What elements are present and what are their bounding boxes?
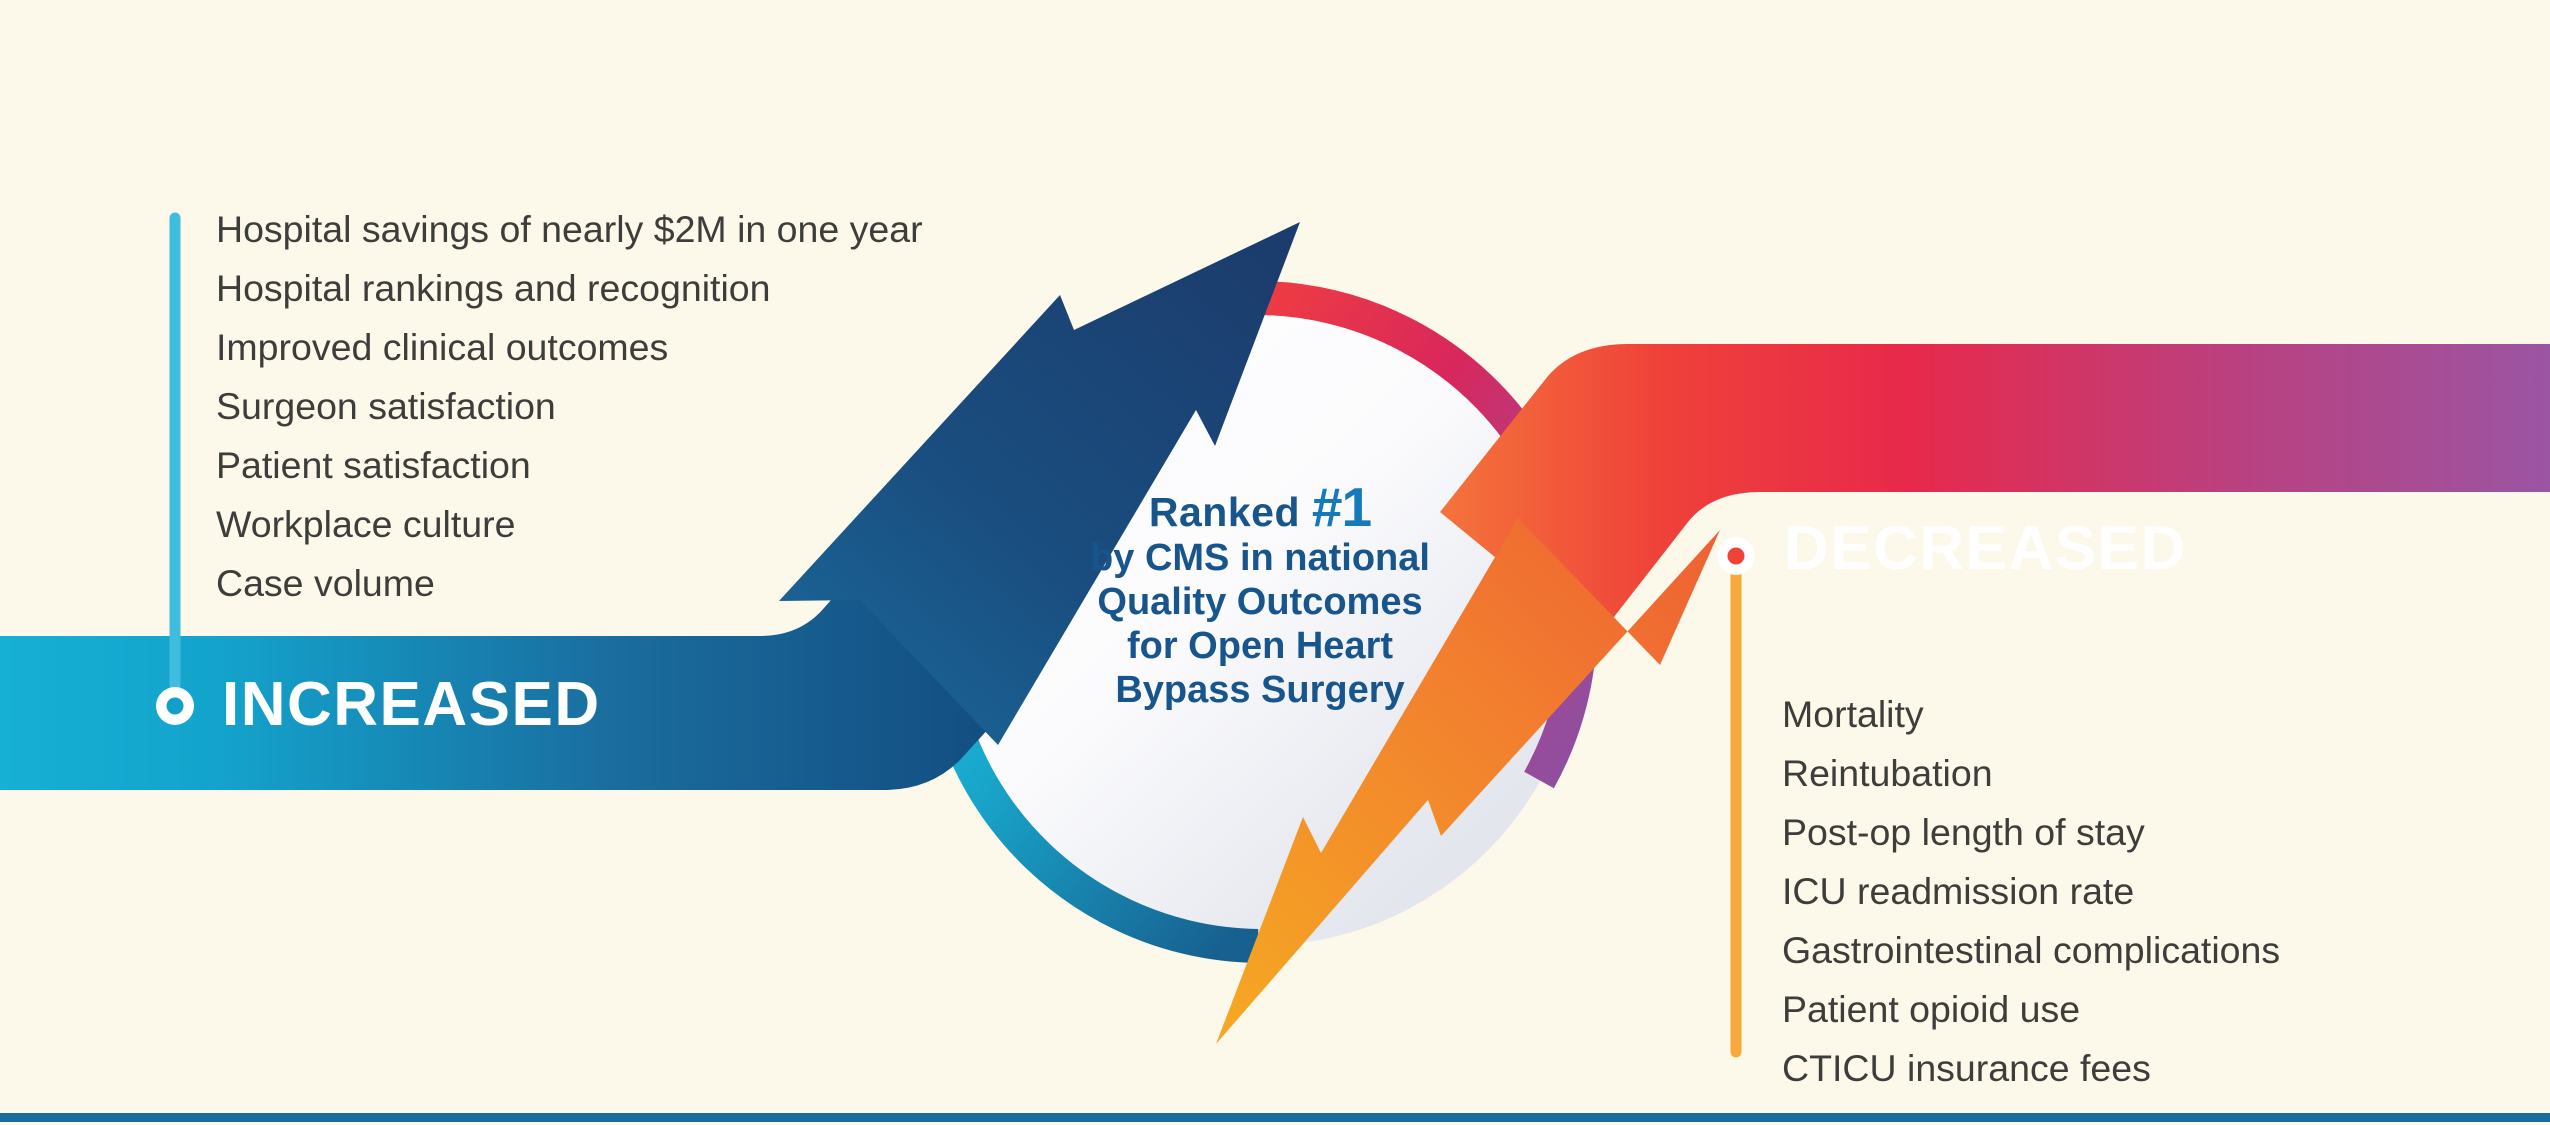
list-item: Case volume xyxy=(216,554,923,613)
center-rank-number: #1 xyxy=(1312,476,1371,538)
list-item: ICU readmission rate xyxy=(1782,862,2280,921)
list-item: CTICU insurance fees xyxy=(1782,1039,2280,1098)
center-line-2: Quality Outcomes xyxy=(1035,580,1485,624)
list-item: Hospital savings of nearly $2M in one ye… xyxy=(216,200,923,259)
decreased-items-list: Mortality Reintubation Post-op length of… xyxy=(1782,685,2280,1098)
center-badge-text: Ranked #1 by CMS in national Quality Out… xyxy=(1035,485,1485,712)
decreased-connector-group xyxy=(1717,537,1755,1052)
list-item: Surgeon satisfaction xyxy=(216,377,923,436)
list-item: Reintubation xyxy=(1782,744,2280,803)
decreased-banner-label: DECREASED xyxy=(1784,518,2187,580)
list-item: Post-op length of stay xyxy=(1782,803,2280,862)
list-item: Improved clinical outcomes xyxy=(216,318,923,377)
center-headline-prefix: Ranked xyxy=(1149,489,1300,535)
list-item: Gastrointestinal complications xyxy=(1782,921,2280,980)
ring-marker-decreased-hole xyxy=(1728,548,1745,565)
increased-banner-label: INCREASED xyxy=(222,674,601,736)
decreased-banner-shape xyxy=(1440,344,2550,640)
list-item: Hospital rankings and recognition xyxy=(216,259,923,318)
increased-items-list: Hospital savings of nearly $2M in one ye… xyxy=(216,200,923,613)
center-headline: Ranked #1 xyxy=(1035,485,1485,534)
ring-marker-increased-hole xyxy=(167,698,184,715)
center-line-4: Bypass Surgery xyxy=(1035,668,1485,712)
infographic-canvas: INCREASED DECREASED Hospital savings of … xyxy=(0,0,2550,1125)
list-item: Patient opioid use xyxy=(1782,980,2280,1039)
center-line-3: for Open Heart xyxy=(1035,624,1485,668)
list-item: Mortality xyxy=(1782,685,2280,744)
center-line-1: by CMS in national xyxy=(1035,536,1485,580)
bottom-divider-rule xyxy=(0,1113,2550,1122)
list-item: Patient satisfaction xyxy=(216,436,923,495)
list-item: Workplace culture xyxy=(216,495,923,554)
